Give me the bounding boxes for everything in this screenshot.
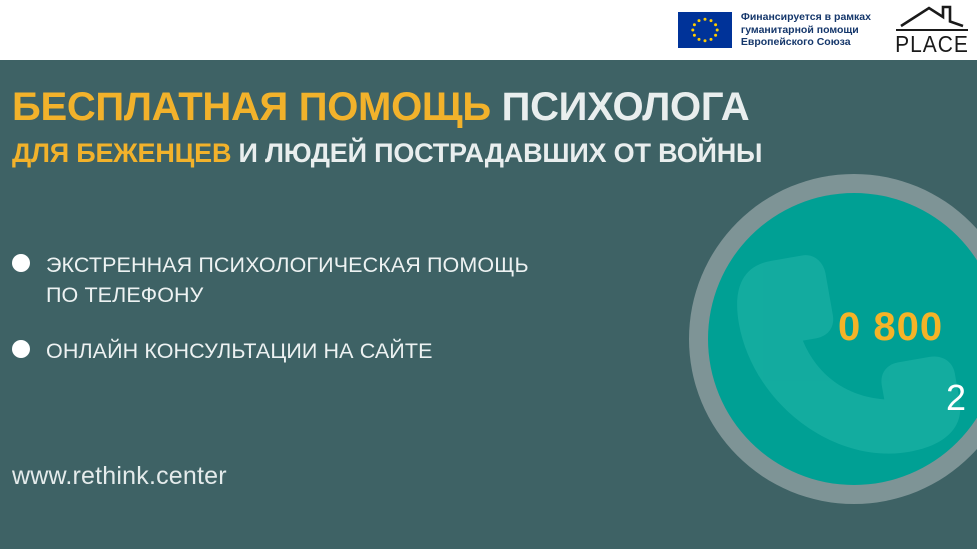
- house-roof-icon: [897, 4, 967, 28]
- list-item-text: ОНЛАЙН КОНСУЛЬТАЦИИ НА САЙТЕ: [46, 336, 433, 366]
- dot-bullet-icon: [12, 254, 30, 272]
- hotline-number-line-2: 2: [946, 378, 967, 418]
- eu-funding-line-2: гуманитарной помощи: [741, 24, 871, 37]
- headline-line-2-rest: И ЛЮДЕЙ ПОСТРАДАВШИХ ОТ ВОЙНЫ: [231, 138, 762, 168]
- list-item-line-1: ОНЛАЙН КОНСУЛЬТАЦИИ НА САЙТЕ: [46, 336, 433, 366]
- eu-funding-statement: Финансируется в рамках гуманитарной помо…: [741, 11, 871, 49]
- list-item: ЭКСТРЕННАЯ ПСИХОЛОГИЧЕСКАЯ ПОМОЩЬ ПО ТЕЛ…: [12, 250, 712, 310]
- list-item-text: ЭКСТРЕННАЯ ПСИХОЛОГИЧЕСКАЯ ПОМОЩЬ ПО ТЕЛ…: [46, 250, 529, 310]
- headline-line-1-highlight: БЕСПЛАТНАЯ ПОМОЩЬ: [12, 85, 491, 129]
- top-logo-bar: Финансируется в рамках гуманитарной помо…: [0, 0, 977, 60]
- psychological-help-banner: Финансируется в рамках гуманитарной помо…: [0, 0, 977, 549]
- eu-funding-line-1: Финансируется в рамках: [741, 11, 871, 24]
- headline-line-2: ДЛЯ БЕЖЕНЦЕВ И ЛЮДЕЙ ПОСТРАДАВШИХ ОТ ВОЙ…: [12, 136, 912, 170]
- service-list: ЭКСТРЕННАЯ ПСИХОЛОГИЧЕСКАЯ ПОМОЩЬ ПО ТЕЛ…: [12, 250, 712, 392]
- hotline-circle-graphic: [677, 0, 977, 549]
- headline-line-1: БЕСПЛАТНАЯ ПОМОЩЬ ПСИХОЛОГА: [12, 84, 912, 130]
- website-url[interactable]: www.rethink.center: [12, 461, 227, 491]
- hotline-number-line-1: 0 800: [838, 305, 943, 349]
- place-logo: PLACE: [893, 4, 971, 54]
- list-item-line-1: ЭКСТРЕННАЯ ПСИХОЛОГИЧЕСКАЯ ПОМОЩЬ: [46, 250, 529, 280]
- list-item: ОНЛАЙН КОНСУЛЬТАЦИИ НА САЙТЕ: [12, 336, 712, 366]
- eu-funding-line-3: Европейского Союза: [741, 36, 871, 49]
- headline: БЕСПЛАТНАЯ ПОМОЩЬ ПСИХОЛОГА ДЛЯ БЕЖЕНЦЕВ…: [12, 84, 912, 170]
- eu-flag-icon: [678, 12, 732, 48]
- list-item-line-2: ПО ТЕЛЕФОНУ: [46, 280, 529, 310]
- headline-line-1-rest: ПСИХОЛОГА: [491, 85, 750, 129]
- headline-line-2-highlight: ДЛЯ БЕЖЕНЦЕВ: [12, 138, 231, 168]
- dot-bullet-icon: [12, 340, 30, 358]
- place-wordmark: PLACE: [893, 33, 971, 57]
- place-logo-rule: [896, 29, 968, 31]
